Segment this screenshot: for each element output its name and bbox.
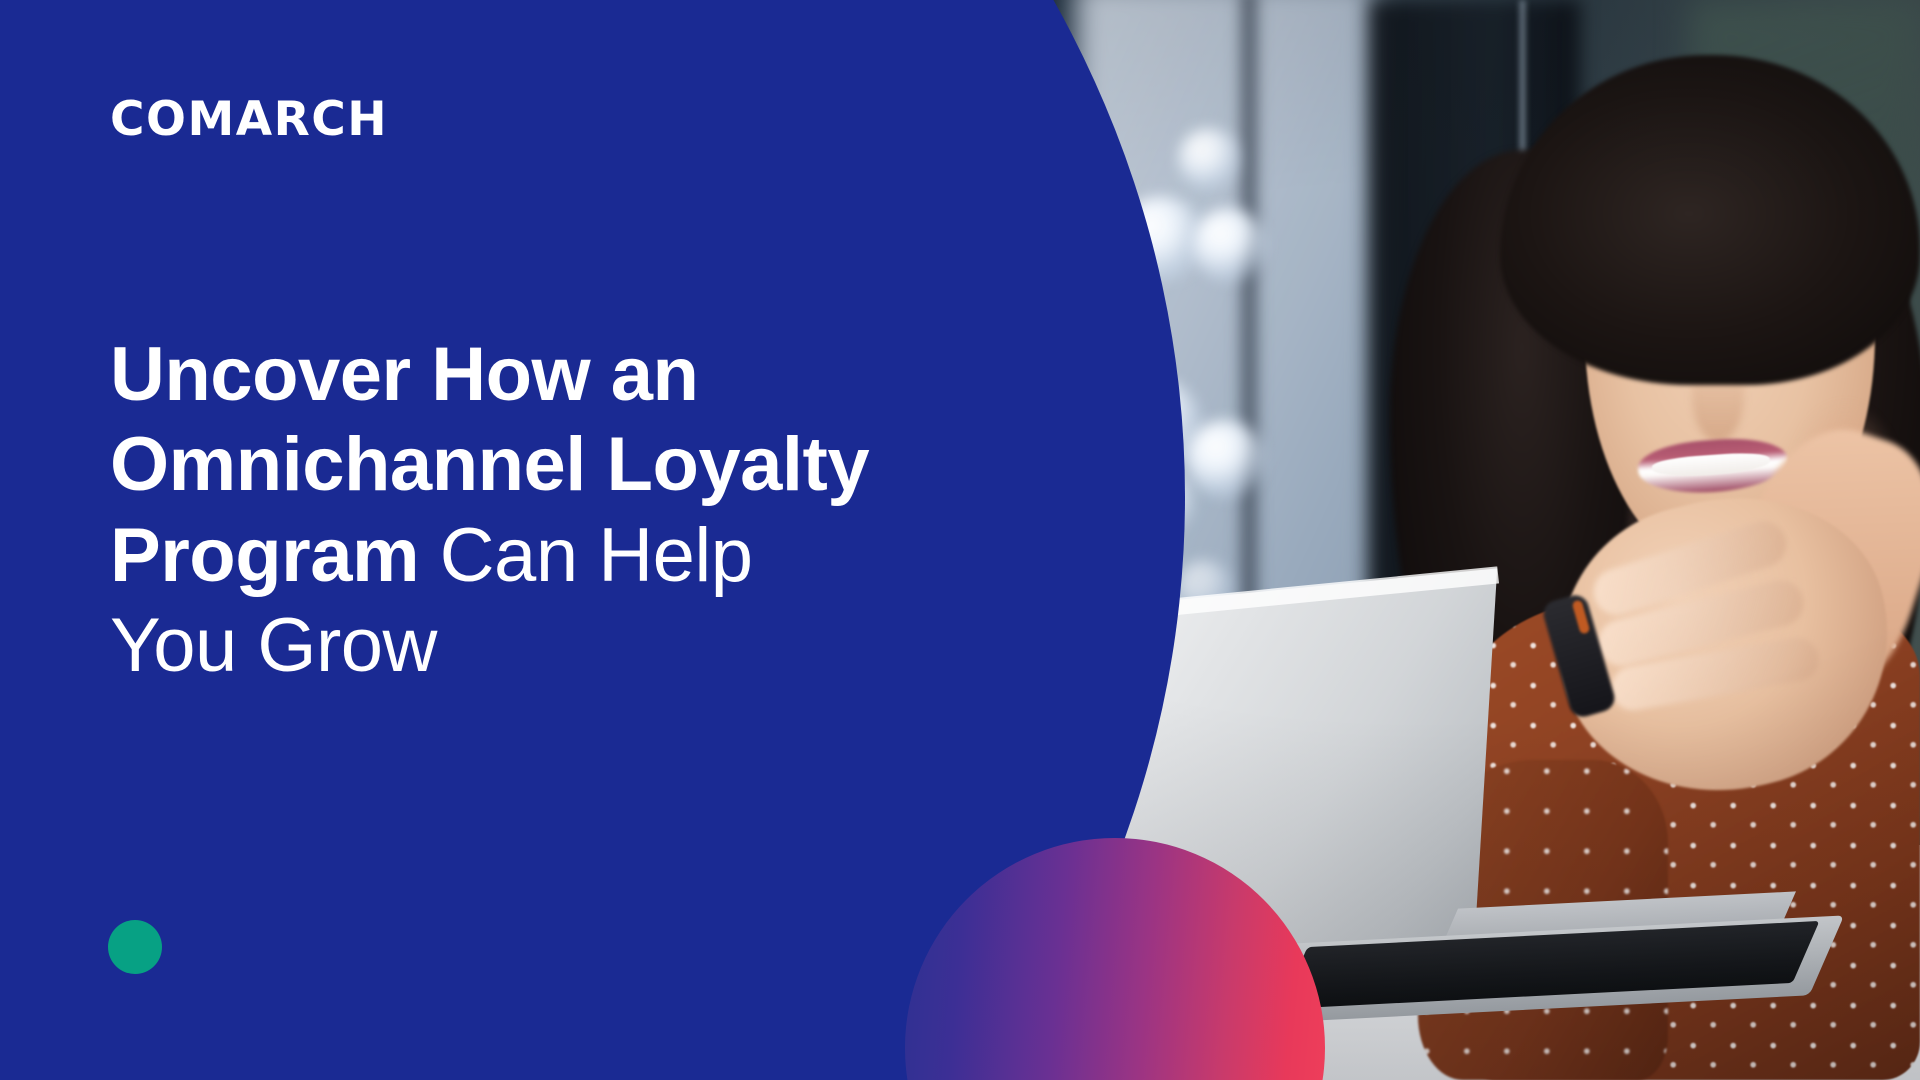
headline-line-3-light: Can Help [419, 513, 752, 598]
bokeh-light [1192, 208, 1266, 282]
headline-line-1: Uncover How an [110, 332, 698, 417]
headline-line-3-strong: Program [110, 513, 419, 598]
headline-line-2: Omnichannel Loyalty [110, 422, 869, 507]
bokeh-light [1186, 420, 1264, 498]
page-title: Uncover How an Omnichannel Loyalty Progr… [110, 330, 990, 692]
headline-line-4: You Grow [110, 603, 437, 688]
bokeh-light [1178, 128, 1240, 190]
banner-content: COMARCH Uncover How an Omnichannel Loyal… [0, 0, 1080, 1080]
marketing-banner: COMARCH Uncover How an Omnichannel Loyal… [0, 0, 1920, 1080]
green-accent-dot [108, 920, 162, 974]
comarch-logo[interactable]: COMARCH [110, 96, 388, 143]
